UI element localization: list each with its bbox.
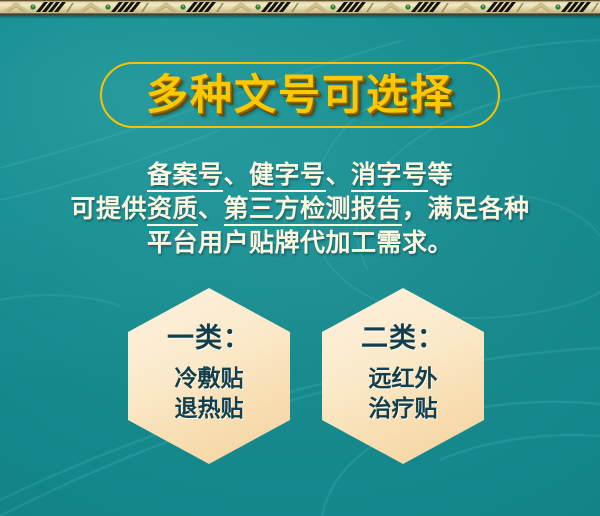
category-item: 远红外 xyxy=(322,364,484,394)
description-line: 可提供资质、第三方检测报告，满足各种 xyxy=(0,192,600,226)
category-item: 冷敷贴 xyxy=(128,364,290,394)
description-segment: 等 xyxy=(428,160,454,189)
description-segment: 消字号 xyxy=(351,160,428,192)
decorative-top-border xyxy=(0,0,600,15)
category-item: 退热贴 xyxy=(128,394,290,424)
page-title: 多种文号可选择 xyxy=(0,60,600,130)
description-segment: 、 xyxy=(198,194,224,223)
description-line: 平台用户贴牌代加工需求。 xyxy=(0,226,600,260)
category-items: 冷敷贴 退热贴 xyxy=(128,364,290,424)
description-segment: ，满足各种 xyxy=(402,194,530,223)
description-segment: 、 xyxy=(223,160,249,189)
description-segment: 资质 xyxy=(147,194,198,226)
promo-poster: 多种文号可选择 备案号、健字号、消字号等 可提供资质、第三方检测报告，满足各种 … xyxy=(0,0,600,516)
description-segment: 备案号 xyxy=(147,160,224,192)
chevron-border-pattern-icon xyxy=(0,0,600,15)
description-block: 备案号、健字号、消字号等 可提供资质、第三方检测报告，满足各种 平台用户贴牌代加… xyxy=(0,158,600,260)
category-item: 治疗贴 xyxy=(322,394,484,424)
description-segment: 、 xyxy=(326,160,352,189)
description-segment: 可提供 xyxy=(70,194,147,223)
category-items: 远红外 治疗贴 xyxy=(322,364,484,424)
description-line: 备案号、健字号、消字号等 xyxy=(0,158,600,192)
description-segment: 健字号 xyxy=(249,160,326,192)
description-segment: 平台用户贴牌代加工需求。 xyxy=(147,228,453,257)
category-heading: 一类： xyxy=(128,316,290,355)
top-border-shadow xyxy=(0,15,600,19)
category-heading: 二类： xyxy=(322,316,484,355)
description-segment: 第三方检测报告 xyxy=(224,194,403,226)
